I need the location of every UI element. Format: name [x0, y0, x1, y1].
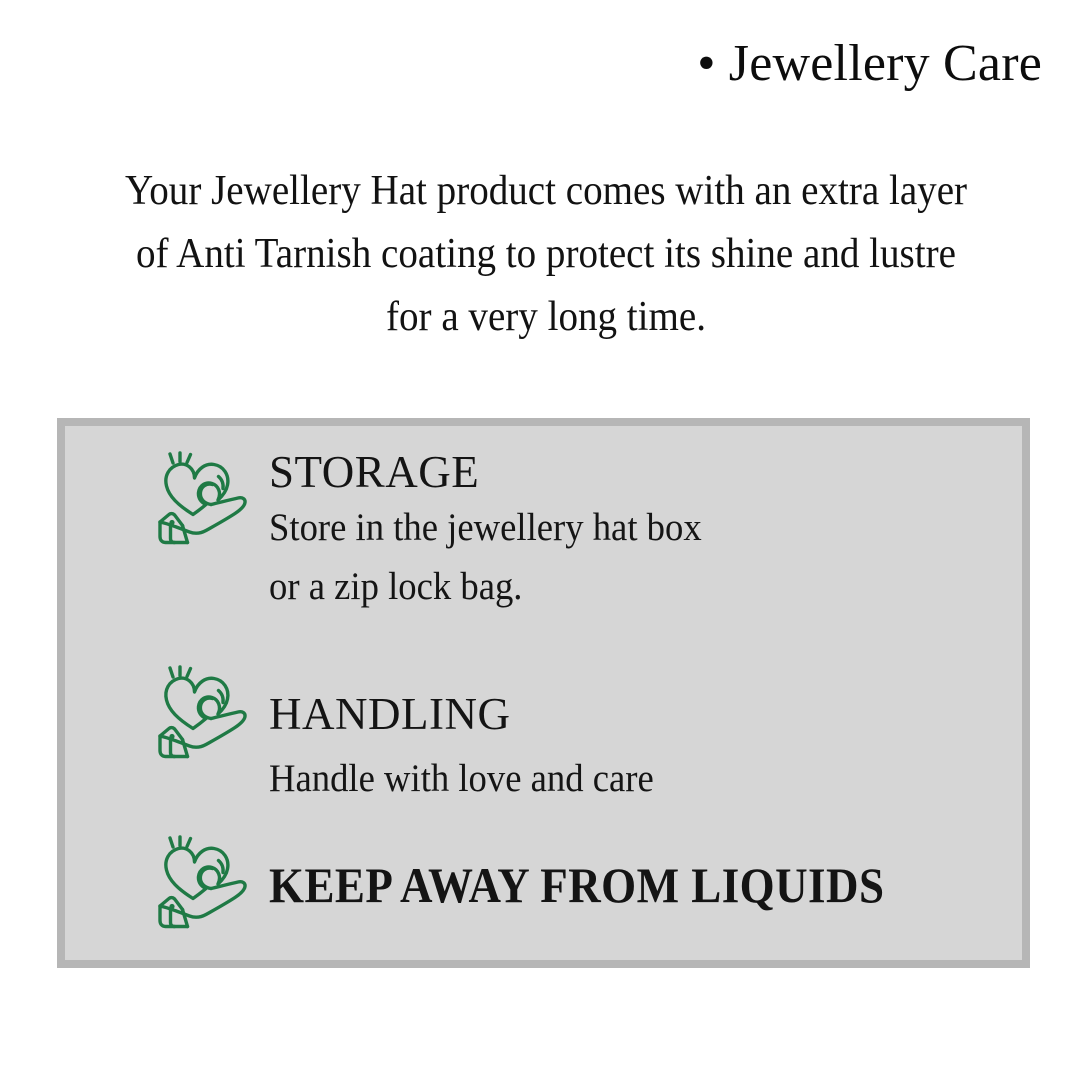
care-item-handling: HANDLING Handle with love and care: [65, 658, 678, 808]
jewellery-care-box: STORAGE Store in the jewellery hat box o…: [57, 418, 1030, 968]
care-item-keep-away-from-liquids-heading: KEEP AWAY FROM LIQUIDS: [269, 856, 884, 914]
care-item-handling-detail-line-1: Handle with love and care: [269, 750, 654, 808]
page-title: • Jewellery Care: [0, 34, 1042, 94]
hand-holding-heart-icon: [149, 658, 253, 768]
care-item-storage-detail-line-1: Store in the jewellery hat box: [269, 498, 702, 557]
care-item-storage-detail-line-2: or a zip lock bag.: [269, 557, 702, 616]
care-item-storage-heading: STORAGE: [269, 446, 729, 498]
hand-holding-heart-icon: [149, 444, 253, 554]
care-item-storage-text: STORAGE Store in the jewellery hat box o…: [269, 444, 729, 616]
intro-paragraph: Your Jewellery Hat product comes with an…: [111, 160, 981, 349]
care-item-handling-heading: HANDLING: [269, 688, 678, 740]
hand-holding-heart-icon: [149, 834, 253, 938]
care-item-storage: STORAGE Store in the jewellery hat box o…: [65, 444, 729, 616]
care-item-handling-text: HANDLING Handle with love and care: [269, 658, 678, 808]
care-item-keep-away-from-liquids-text: KEEP AWAY FROM LIQUIDS: [269, 834, 953, 914]
care-item-keep-away-from-liquids: KEEP AWAY FROM LIQUIDS: [65, 834, 953, 938]
